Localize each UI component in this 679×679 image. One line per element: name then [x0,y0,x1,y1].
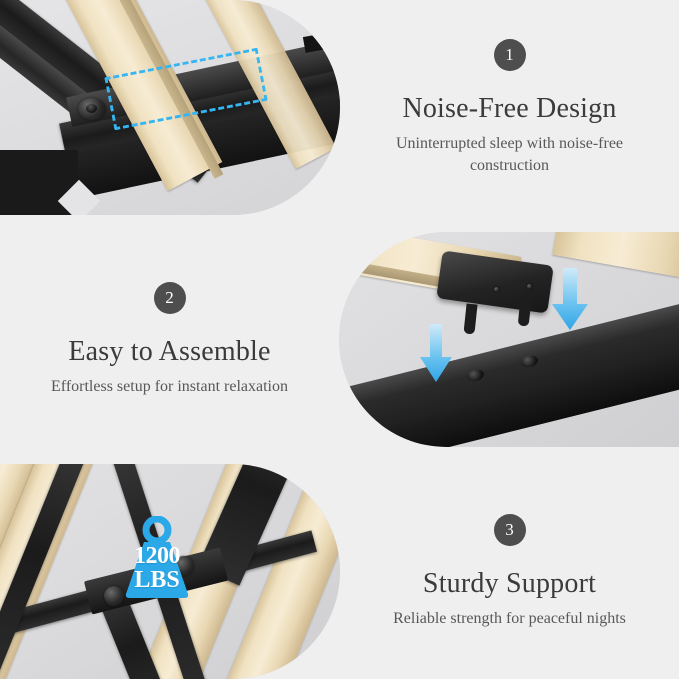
feature-title-3: Sturdy Support [423,568,596,600]
feature-text-sturdy-support: 3 Sturdy Support Reliable strength for p… [340,464,679,679]
product-feature-infographic: 1 Noise-Free Design Uninterrupted sleep … [0,0,679,679]
weight-capacity-badge: 1200 LBS [118,516,196,598]
step-badge-1: 1 [494,39,526,71]
clip-prong-right [518,299,532,326]
feature-subtitle-3: Reliable strength for peaceful nights [393,608,626,630]
feature-text-noise-free: 1 Noise-Free Design Uninterrupted sleep … [340,0,679,215]
feature-subtitle-2: Effortless setup for instant relaxation [51,376,288,398]
photo-background [339,232,679,447]
row-divider-1 [0,215,679,232]
weight-unit: LBS [134,568,180,592]
feature-title-1: Noise-Free Design [402,93,616,125]
plastic-end-cap [436,250,554,313]
feature-subtitle-1: Uninterrupted sleep with noise-free cons… [360,133,660,176]
step-badge-3: 3 [494,514,526,546]
feature-title-2: Easy to Assemble [68,336,270,368]
feature-row-2: 2 Easy to Assemble Effortless setup for … [0,232,679,447]
assembly-arrow-left-icon [419,324,453,384]
clip-prong-left [463,303,477,334]
assembly-arrow-right-icon [551,268,589,332]
bolt-socket [86,104,97,113]
feature-row-3: 1200 LBS 3 Sturdy Support Reliable stren… [0,464,679,679]
feature-row-1: 1 Noise-Free Design Uninterrupted sleep … [0,0,679,215]
step-badge-2: 2 [154,282,186,314]
row-divider-2 [0,447,679,464]
end-cap-screw-2 [527,284,532,289]
feature-image-sturdy-support: 1200 LBS [0,464,340,679]
weight-label: 1200 LBS [134,544,180,598]
feature-text-easy-assemble: 2 Easy to Assemble Effortless setup for … [0,232,339,447]
photo-background [0,0,340,215]
feature-image-easy-assemble [339,232,679,447]
feature-image-noise-free [0,0,340,215]
end-cap-screw-1 [494,287,499,292]
photo-background: 1200 LBS [0,464,340,679]
weight-value: 1200 [134,544,180,568]
